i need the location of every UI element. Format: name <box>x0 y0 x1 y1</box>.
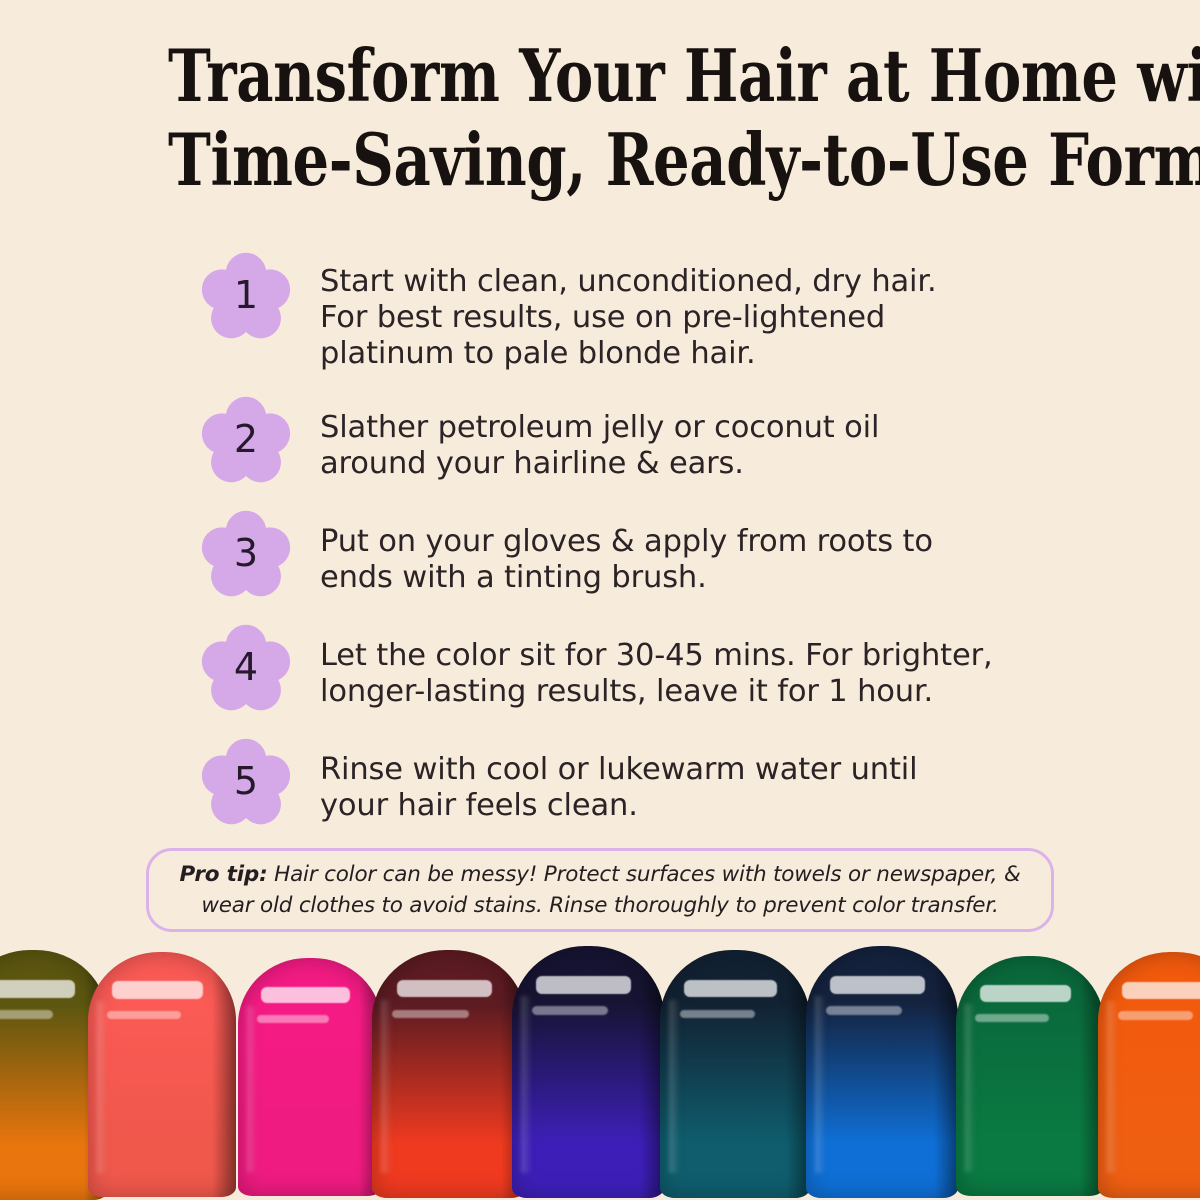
step-number: 3 <box>200 508 292 600</box>
step-badge: 3 <box>196 508 294 600</box>
color-swatch-teal <box>660 950 810 1198</box>
color-swatch-coral-red <box>88 952 236 1197</box>
steps-list: 1 Start with clean, unconditioned, dry h… <box>196 250 1066 850</box>
swatch-highlight-secondary <box>826 1006 902 1015</box>
swatch-shadow-edge <box>212 952 236 1197</box>
step-item: 1 Start with clean, unconditioned, dry h… <box>196 250 1066 372</box>
pro-tip-text: Pro tip: Hair color can be messy! Protec… <box>169 859 1031 921</box>
step-number: 2 <box>200 394 292 486</box>
step-item: 2 Slather petroleum jelly or coconut oil… <box>196 394 1066 486</box>
step-text: Start with clean, unconditioned, dry hai… <box>294 250 937 372</box>
step-number: 5 <box>200 736 292 828</box>
color-swatch-hot-pink <box>238 958 382 1196</box>
step-text: Slather petroleum jelly or coconut oil a… <box>294 394 879 482</box>
step-text: Let the color sit for 30-45 mins. For br… <box>294 622 993 710</box>
swatch-highlight <box>397 980 492 997</box>
step-item: 5 Rinse with cool or lukewarm water unti… <box>196 736 1066 828</box>
step-badge: 1 <box>196 250 294 342</box>
swatch-highlight-secondary <box>680 1010 755 1019</box>
swatch-side-sheen <box>965 1004 975 1172</box>
swatch-highlight <box>980 985 1072 1002</box>
step-text: Put on your gloves & apply from roots to… <box>294 508 933 596</box>
swatch-side-sheen <box>247 1006 257 1173</box>
swatch-highlight <box>0 980 75 998</box>
swatch-highlight <box>536 976 630 994</box>
step-text: Rinse with cool or lukewarm water until … <box>294 736 917 824</box>
infographic-page: Transform Your Hair at Home with Our Tim… <box>0 0 1200 1200</box>
swatch-side-sheen <box>381 1000 392 1174</box>
swatch-highlight-secondary <box>0 1010 53 1019</box>
title-line-1: Transform Your Hair at Home with Our <box>168 34 1032 118</box>
swatch-highlight <box>1122 982 1200 999</box>
swatch-side-sheen <box>1107 1001 1118 1173</box>
title-line-2: Time-Saving, Ready-to-Use Formula <box>168 118 1032 202</box>
swatch-highlight-secondary <box>107 1011 181 1020</box>
pro-tip-label: Pro tip: <box>179 862 267 887</box>
swatch-highlight-secondary <box>1118 1011 1193 1020</box>
swatch-side-sheen <box>815 996 826 1172</box>
color-swatch-emerald-green <box>956 956 1104 1196</box>
page-title: Transform Your Hair at Home with Our Tim… <box>60 34 1140 202</box>
step-number: 1 <box>200 250 292 342</box>
step-number: 4 <box>200 622 292 714</box>
swatch-shadow-edge <box>934 946 958 1198</box>
step-badge: 2 <box>196 394 294 486</box>
step-item: 3 Put on your gloves & apply from roots … <box>196 508 1066 600</box>
step-badge: 5 <box>196 736 294 828</box>
swatch-side-sheen <box>521 996 532 1172</box>
swatch-highlight-secondary <box>532 1006 608 1015</box>
swatch-highlight <box>112 981 204 998</box>
pro-tip-body: Hair color can be messy! Protect surface… <box>201 862 1020 918</box>
color-swatch-strip <box>0 940 1200 1200</box>
color-swatch-dark-red-crimson <box>372 950 526 1198</box>
swatch-side-sheen <box>97 1001 107 1173</box>
swatch-highlight-secondary <box>392 1010 469 1019</box>
swatch-highlight-secondary <box>975 1014 1049 1022</box>
color-swatch-indigo-violet <box>512 946 664 1198</box>
pro-tip-box: Pro tip: Hair color can be messy! Protec… <box>146 848 1054 932</box>
color-swatch-royal-blue <box>806 946 958 1198</box>
color-swatch-orange <box>1098 952 1200 1198</box>
step-badge: 4 <box>196 622 294 714</box>
swatch-side-sheen <box>669 1000 680 1174</box>
step-item: 4 Let the color sit for 30-45 mins. For … <box>196 622 1066 714</box>
swatch-highlight-secondary <box>257 1015 329 1023</box>
swatch-highlight <box>684 980 777 997</box>
swatch-highlight <box>261 987 350 1004</box>
swatch-highlight <box>830 976 924 994</box>
